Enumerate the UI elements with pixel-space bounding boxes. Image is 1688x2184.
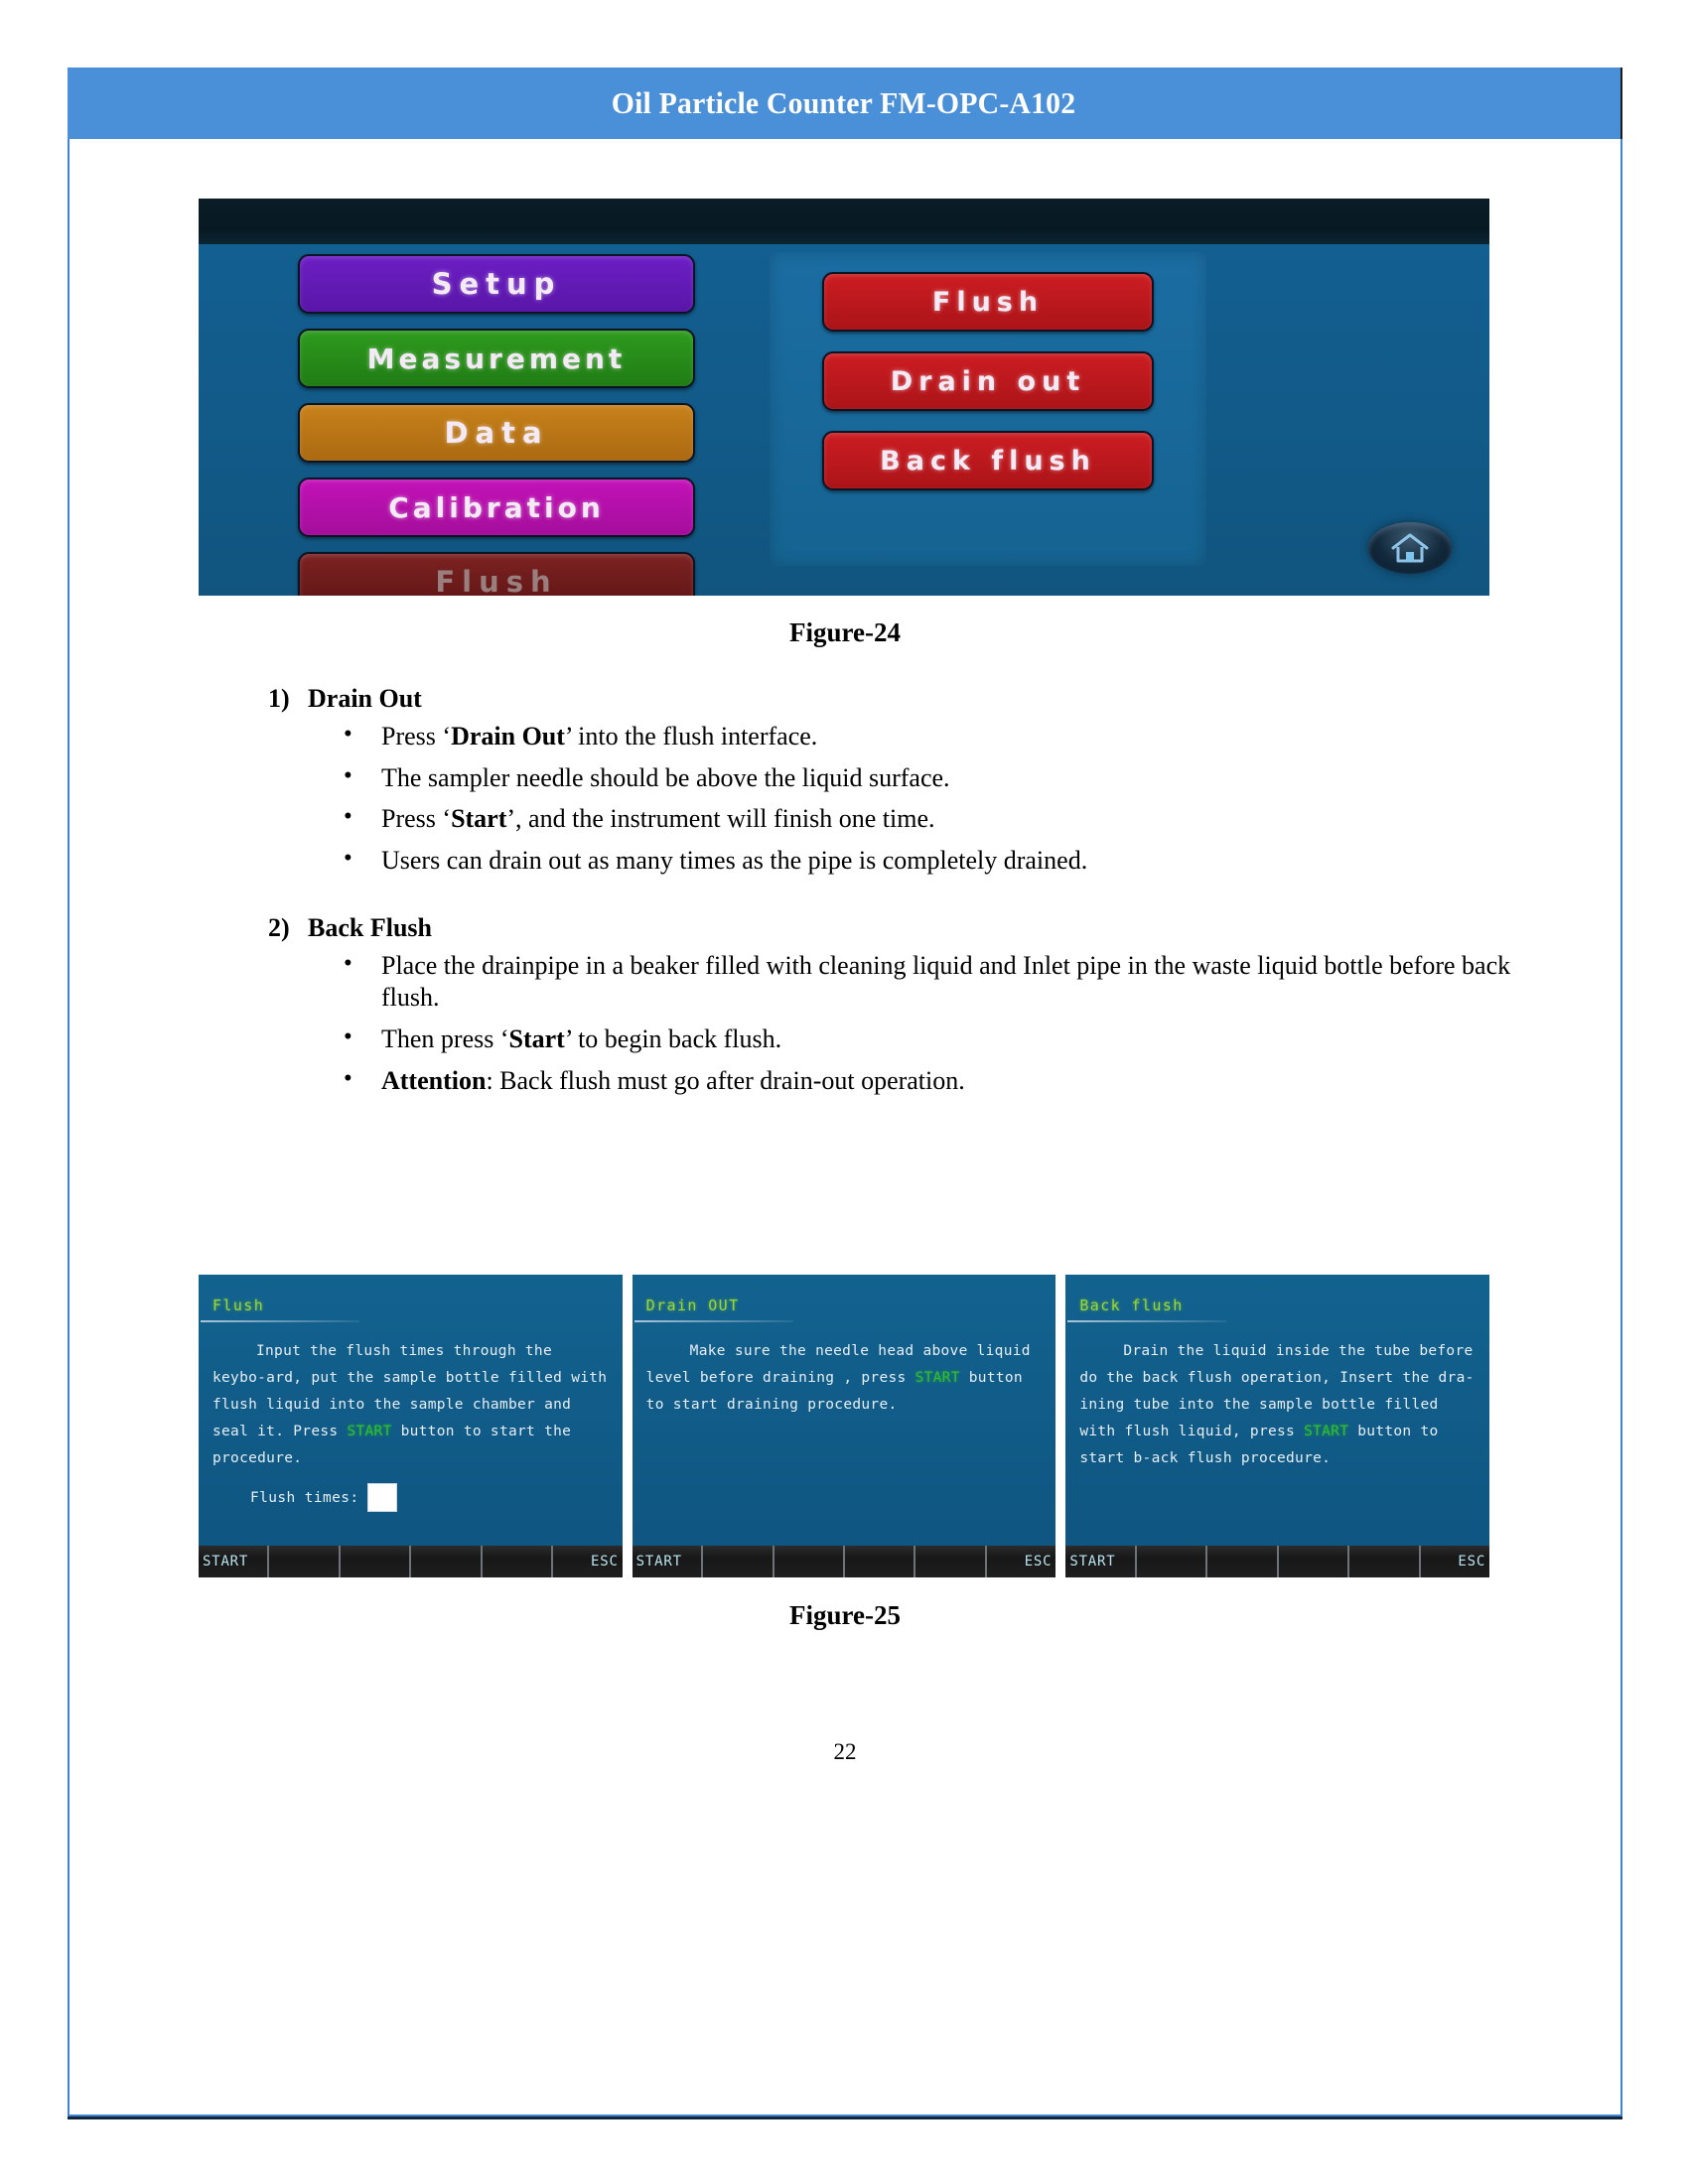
softkey-blank-3[interactable] — [845, 1546, 915, 1577]
bullet-text-1: The sampler needle should be above the l… — [381, 763, 950, 792]
figure-25-device-screens: Flush Input the flush times through the … — [199, 1275, 1489, 1577]
list-item: Then press ‘Start’ to begin back flush. — [338, 1024, 1549, 1056]
softkey-blank-4[interactable] — [915, 1546, 986, 1577]
device-status-bar — [199, 199, 1489, 244]
list-item: Press ‘Start’, and the instrument will f… — [338, 803, 1549, 836]
lcd-body-text-back-flush: Drain the liquid inside the tube before … — [1079, 1338, 1477, 1472]
softkey-esc-label: ESC — [587, 1554, 623, 1570]
title-underline — [634, 1320, 793, 1322]
title-underline — [201, 1320, 359, 1322]
main-menu-button-column: Setup Measurement Data Calibration Flush — [298, 254, 695, 596]
softkey-blank-2[interactable] — [774, 1546, 845, 1577]
action-button-flush[interactable]: Flush — [822, 272, 1154, 332]
page-content: Setup Measurement Data Calibration Flush… — [70, 141, 1620, 2113]
softkey-esc[interactable]: ESC — [1421, 1546, 1489, 1577]
lcd-title-back-flush: Back flush — [1079, 1297, 1183, 1314]
lcd-panel-back-flush: Back flush Drain the liquid inside the t… — [1065, 1275, 1489, 1577]
softkey-start[interactable]: START — [1065, 1546, 1136, 1577]
document-header: Oil Particle Counter FM-OPC-A102 — [68, 68, 1622, 139]
section-title: Drain Out — [308, 684, 422, 713]
softkey-esc-label: ESC — [1021, 1554, 1056, 1570]
flush-times-input[interactable] — [367, 1483, 397, 1512]
softkey-blank-2[interactable] — [1207, 1546, 1278, 1577]
softkey-bar: START ESC — [1065, 1546, 1489, 1577]
flush-actions-panel: Flush Drain out Back flush — [770, 252, 1206, 566]
softkey-esc[interactable]: ESC — [553, 1546, 622, 1577]
lcd-title-drain-out: Drain OUT — [646, 1297, 740, 1314]
list-item: The sampler needle should be above the l… — [338, 762, 1549, 795]
softkey-start-label: START — [199, 1554, 252, 1570]
softkey-blank-1[interactable] — [269, 1546, 340, 1577]
softkey-start[interactable]: START — [633, 1546, 703, 1577]
list-item: Users can drain out as many times as the… — [338, 845, 1549, 878]
softkey-start-label: START — [633, 1554, 686, 1570]
softkey-blank-1[interactable] — [1137, 1546, 1207, 1577]
home-icon[interactable] — [1368, 522, 1452, 574]
section-number: 1) — [268, 682, 308, 717]
flush-times-label: Flush times: — [250, 1490, 359, 1506]
flush-times-field-row: Flush times: — [250, 1483, 397, 1512]
lcd-panel-drain-out: Drain OUT Make sure the needle head abov… — [633, 1275, 1056, 1577]
softkey-start[interactable]: START — [199, 1546, 269, 1577]
softkey-blank-3[interactable] — [1279, 1546, 1349, 1577]
section-title: Back Flush — [308, 913, 432, 942]
list-item: Attention: Back flush must go after drai… — [338, 1065, 1549, 1098]
section-heading-drain-out: 1)Drain Out — [268, 682, 1549, 717]
menu-button-measurement[interactable]: Measurement — [298, 329, 695, 388]
action-button-back-flush[interactable]: Back flush — [822, 431, 1154, 490]
lcd-body-text-drain-out: Make sure the needle head above liquid l… — [646, 1338, 1045, 1419]
instructions-block: 1)Drain Out Press ‘Drain Out’ into the f… — [268, 682, 1549, 1132]
page-number: 22 — [70, 1739, 1620, 1765]
page-title: Oil Particle Counter FM-OPC-A102 — [612, 85, 1076, 121]
softkey-blank-4[interactable] — [483, 1546, 553, 1577]
softkey-blank-3[interactable] — [411, 1546, 482, 1577]
figure-24-device-screen: Setup Measurement Data Calibration Flush… — [199, 199, 1489, 596]
bullet-text-0: Press ‘Drain Out’ into the flush interfa… — [381, 722, 817, 751]
list-item: Place the drainpipe in a beaker filled w… — [338, 950, 1549, 1016]
bullet-text-2: Press ‘Start’, and the instrument will f… — [381, 804, 935, 833]
home-glyph — [1390, 531, 1430, 565]
lcd-title-flush: Flush — [212, 1297, 264, 1314]
softkey-bar: START ESC — [633, 1546, 1056, 1577]
section-heading-back-flush: 2)Back Flush — [268, 911, 1549, 946]
softkey-blank-2[interactable] — [341, 1546, 411, 1577]
softkey-blank-4[interactable] — [1349, 1546, 1420, 1577]
softkey-bar: START ESC — [199, 1546, 623, 1577]
bullet-list-drain-out: Press ‘Drain Out’ into the flush interfa… — [268, 721, 1549, 878]
menu-button-setup[interactable]: Setup — [298, 254, 695, 314]
menu-button-data[interactable]: Data — [298, 403, 695, 463]
section-number: 2) — [268, 911, 308, 946]
bullet-text-0: Place the drainpipe in a beaker filled w… — [381, 951, 1510, 1013]
softkey-blank-1[interactable] — [703, 1546, 774, 1577]
bullet-text-3: Users can drain out as many times as the… — [381, 846, 1087, 875]
bullet-text-2: Attention: Back flush must go after drai… — [381, 1066, 965, 1095]
bullet-list-back-flush: Place the drainpipe in a beaker filled w… — [268, 950, 1549, 1098]
bullet-text-1: Then press ‘Start’ to begin back flush. — [381, 1024, 781, 1053]
title-underline — [1067, 1320, 1226, 1322]
action-button-drain-out[interactable]: Drain out — [822, 351, 1154, 411]
softkey-start-label: START — [1065, 1554, 1119, 1570]
softkey-esc-label: ESC — [1454, 1554, 1489, 1570]
figure-25-caption: Figure-25 — [70, 1600, 1620, 1631]
menu-button-flush-disabled: Flush — [298, 552, 695, 596]
device-screen-body: Setup Measurement Data Calibration Flush… — [199, 244, 1489, 596]
lcd-body-text-flush: Input the flush times through the keybo-… — [212, 1338, 611, 1472]
figure-24-caption: Figure-24 — [70, 617, 1620, 648]
menu-button-calibration[interactable]: Calibration — [298, 478, 695, 537]
lcd-panel-flush: Flush Input the flush times through the … — [199, 1275, 623, 1577]
list-item: Press ‘Drain Out’ into the flush interfa… — [338, 721, 1549, 753]
softkey-esc[interactable]: ESC — [987, 1546, 1055, 1577]
